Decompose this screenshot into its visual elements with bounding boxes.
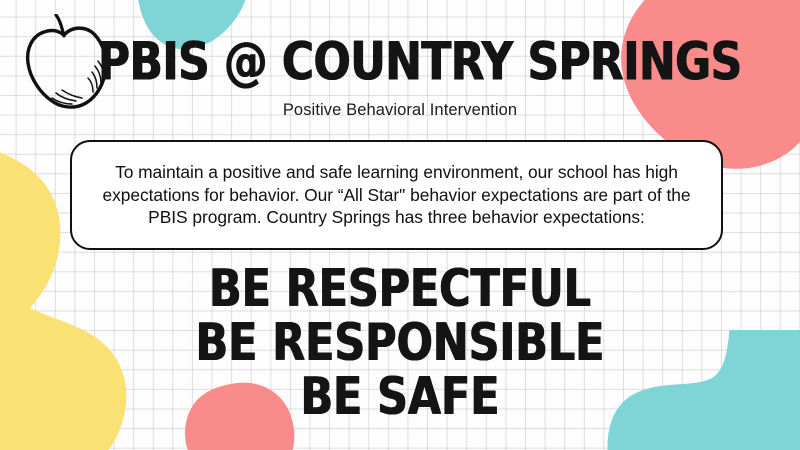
- page-subtitle: Positive Behavioral Intervention: [0, 101, 800, 120]
- page-title: PBIS @ COUNTRY SPRINGS: [98, 36, 742, 89]
- intro-text-box: To maintain a positive and safe learning…: [70, 140, 723, 250]
- intro-paragraph: To maintain a positive and safe learning…: [84, 161, 709, 230]
- expectation-be-respectful: BE RESPECTFUL: [20, 258, 780, 320]
- expectation-be-safe: BE SAFE: [20, 366, 780, 428]
- pbis-poster: PBIS @ COUNTRY SPRINGS Positive Behavior…: [0, 0, 800, 450]
- expectation-be-responsible: BE RESPONSIBLE: [20, 312, 780, 374]
- expectations-list: BE RESPECTFUL BE RESPONSIBLE BE SAFE: [0, 262, 800, 424]
